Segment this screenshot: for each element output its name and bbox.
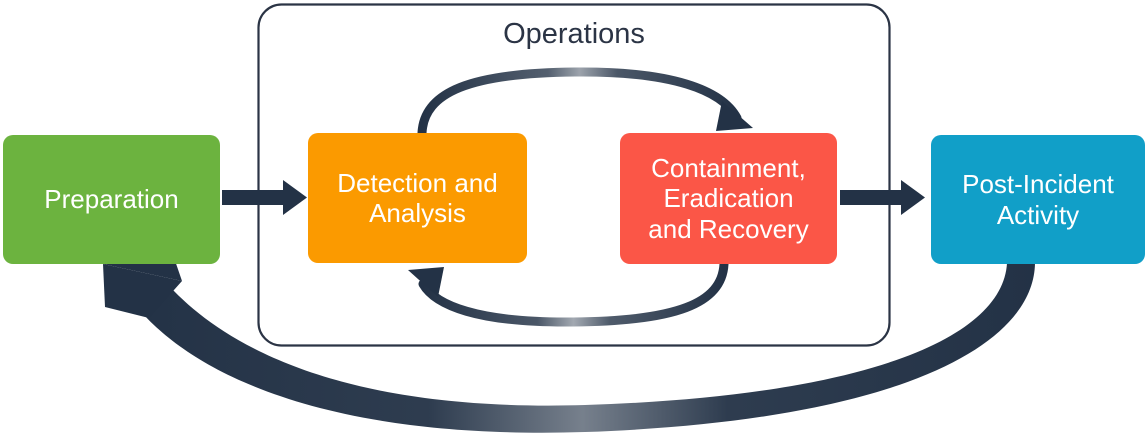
arrow-postincident-to-preparation-feedback: [103, 249, 1035, 433]
node-detection-label: Detection and Analysis: [331, 168, 503, 229]
node-detection[interactable]: Detection and Analysis: [308, 133, 527, 263]
arrow-preparation-to-detection: [222, 180, 307, 215]
node-post-incident-activity[interactable]: Post-Incident Activity: [931, 135, 1145, 264]
node-post-incident-activity-label: Post-Incident Activity: [956, 169, 1120, 230]
node-preparation-label: Preparation: [38, 184, 184, 214]
diagram-canvas: Operations Preparation Detection and Ana…: [0, 0, 1145, 439]
arrow-containment-to-postincident: [840, 180, 925, 215]
arrow-detection-to-containment-top: [422, 72, 753, 133]
node-preparation[interactable]: Preparation: [3, 135, 220, 264]
node-containment[interactable]: Containment, Eradication and Recovery: [620, 133, 837, 264]
arrow-containment-to-detection-bottom: [408, 264, 724, 322]
operations-group-label: Operations: [258, 18, 890, 51]
node-containment-label: Containment, Eradication and Recovery: [642, 153, 814, 244]
